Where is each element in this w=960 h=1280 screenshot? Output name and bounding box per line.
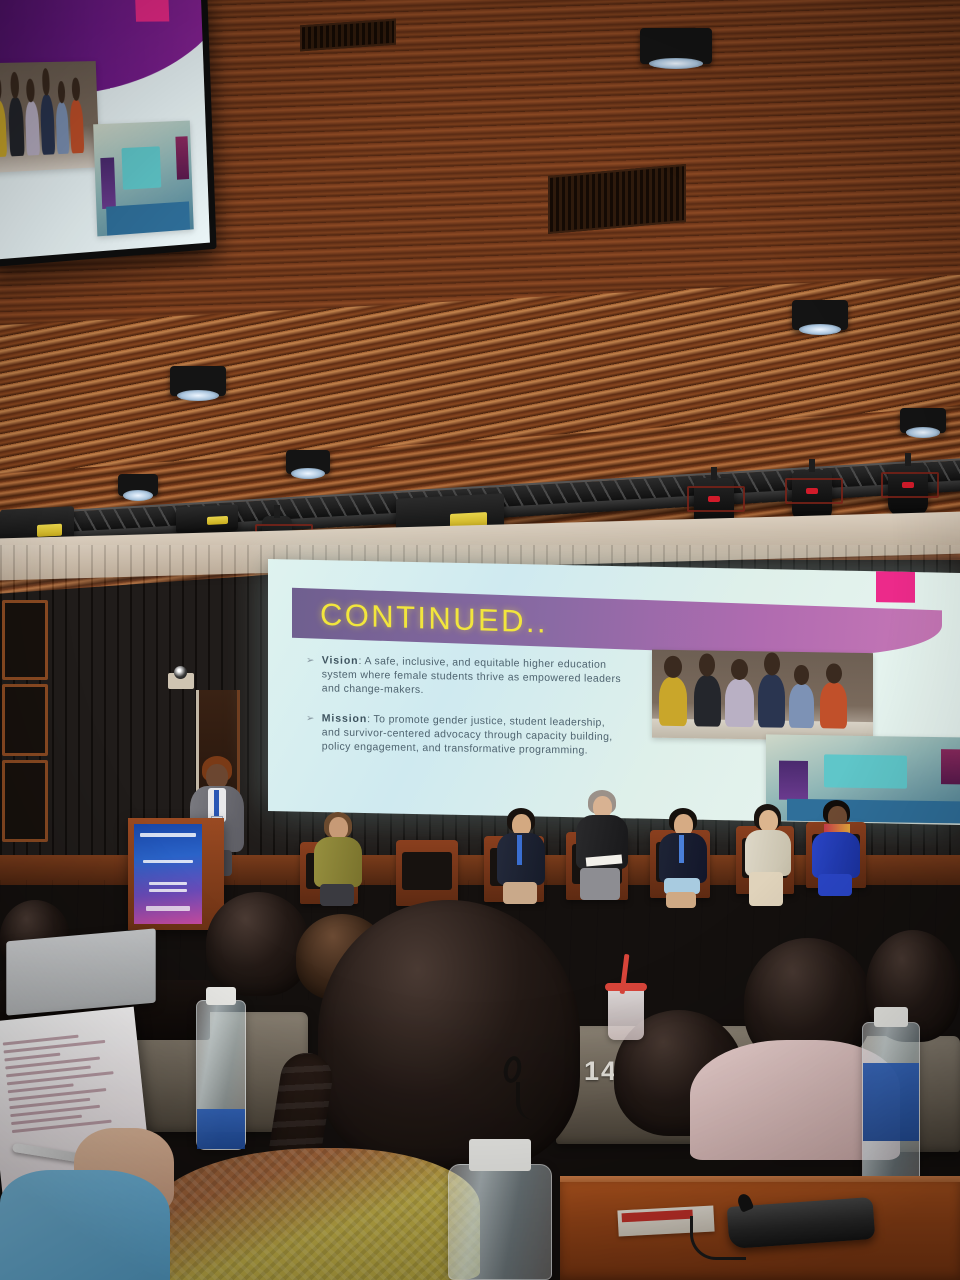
audience-member-seated <box>206 892 310 996</box>
panelist-4 <box>656 808 710 908</box>
panelist-torso <box>314 837 362 887</box>
bullet-arrow-icon: ➢ <box>306 712 315 754</box>
panelist-6 <box>810 800 864 896</box>
photo-figure <box>24 101 39 156</box>
empty-chair <box>396 840 458 906</box>
photo-poster <box>175 136 189 180</box>
monitor-accent-square <box>135 0 169 22</box>
panelist-lanyard <box>679 835 684 863</box>
ceiling-downlight <box>640 28 712 64</box>
ceiling-downlight <box>792 300 848 330</box>
audience-member-braided-hair <box>318 900 580 1168</box>
monitor-screen <box>0 0 210 259</box>
air-vent <box>548 164 686 234</box>
slide-group-photo <box>652 650 873 742</box>
bullet-sentence: A safe, inclusive, and equitable higher … <box>322 655 621 696</box>
bottle-cap <box>206 987 236 1005</box>
photo-figure <box>0 100 7 158</box>
panelist-3 <box>574 790 632 900</box>
panelist-head <box>759 810 778 832</box>
audience-sleeve <box>0 1170 170 1280</box>
ceiling-downlight <box>286 450 330 474</box>
panelist-2 <box>494 808 548 904</box>
photo-display-board <box>824 754 907 788</box>
projection-screen: CONTINUED.. ➢ Vision: A safe, inclusive,… <box>268 559 960 825</box>
panelist-legs <box>320 884 354 906</box>
podium-banner <box>134 824 202 924</box>
ceiling-downlight <box>170 366 226 396</box>
water-bottle <box>448 1164 552 1280</box>
photo-figure <box>659 676 688 726</box>
panelist-torso <box>812 832 860 878</box>
acoustic-panel <box>2 760 48 842</box>
monitor-workshop-photo <box>93 121 193 237</box>
presenter-lanyard <box>214 790 219 818</box>
photo-poster <box>101 157 117 209</box>
photo-figure <box>56 102 70 154</box>
laptop <box>6 928 155 1015</box>
photo-figure <box>789 684 813 728</box>
audience-member-knitted-sweater <box>150 1148 480 1280</box>
bottle-label <box>197 1109 245 1149</box>
photo-figure <box>820 682 847 728</box>
wall-mounted-camera <box>168 673 194 689</box>
bullet-label: Mission <box>322 713 367 726</box>
bottle-label <box>863 1063 919 1141</box>
speaker-podium <box>128 818 224 930</box>
bullet-label: Vision <box>322 655 359 668</box>
photo-figure <box>694 675 721 727</box>
panelist-torso <box>745 830 791 876</box>
panelist-legs <box>580 868 620 900</box>
ceiling-downlight <box>118 474 158 496</box>
banner-text-line <box>140 833 196 837</box>
earpiece-cable <box>516 1082 550 1120</box>
spotlight-lamp <box>902 482 914 488</box>
panelist-lanyard <box>517 835 522 865</box>
photo-poster <box>941 749 960 784</box>
bullet-arrow-icon: ➢ <box>306 654 315 696</box>
stage-spotlight <box>792 470 832 522</box>
conference-hall-photo: CONTINUED.. ➢ Vision: A safe, inclusive,… <box>0 0 960 1280</box>
photo-display-board <box>122 146 162 190</box>
banner-logo-row <box>146 906 191 911</box>
panelist-legs <box>503 882 537 904</box>
banner-text-line <box>143 860 193 863</box>
slide: CONTINUED.. ➢ Vision: A safe, inclusive,… <box>268 561 960 824</box>
panelist-legs <box>818 874 852 896</box>
bottle-cap <box>874 1007 908 1027</box>
drink-cup <box>608 988 644 1040</box>
photo-figure <box>40 94 56 155</box>
banner-text-line <box>149 882 187 885</box>
bottle-cap <box>469 1139 531 1171</box>
ceiling-equipment-box <box>176 504 238 533</box>
slide-title: CONTINUED.. <box>320 591 804 656</box>
panelist-legs <box>749 872 783 906</box>
panelist-5 <box>742 804 794 906</box>
panelist-legs-lower <box>666 892 696 908</box>
monitor-group-photo <box>0 61 99 174</box>
ceiling-downlight <box>900 408 946 433</box>
acoustic-panel <box>2 684 48 756</box>
panelist-head <box>329 817 348 839</box>
slide-bullet-mission: ➢ Mission: To promote gender justice, st… <box>306 712 624 759</box>
photo-figure <box>8 97 24 157</box>
cup-lid <box>605 983 647 991</box>
banner-text-line <box>149 889 187 892</box>
bullet-body: Mission: To promote gender justice, stud… <box>322 713 625 760</box>
photo-figure <box>758 674 785 727</box>
photo-figure <box>70 100 85 154</box>
overhead-confidence-monitor <box>0 0 217 267</box>
slide-bullet-list: ➢ Vision: A safe, inclusive, and equitab… <box>306 654 624 775</box>
bullet-body: Vision: A safe, inclusive, and equitable… <box>322 655 625 702</box>
slide-accent-square <box>876 570 915 602</box>
water-bottle <box>196 1000 246 1150</box>
photo-desk <box>106 201 189 235</box>
photo-poster <box>779 761 808 801</box>
stage-spotlight <box>888 464 928 516</box>
seat-row-number: 14 <box>584 1056 618 1087</box>
spotlight-lamp <box>708 496 720 502</box>
slide-bullet-vision: ➢ Vision: A safe, inclusive, and equitab… <box>306 654 624 701</box>
spotlight-lamp <box>806 488 818 494</box>
acoustic-panel <box>2 600 48 680</box>
agenda-line <box>4 1053 60 1062</box>
photo-figure <box>725 679 754 727</box>
panelist-1 <box>312 812 366 904</box>
